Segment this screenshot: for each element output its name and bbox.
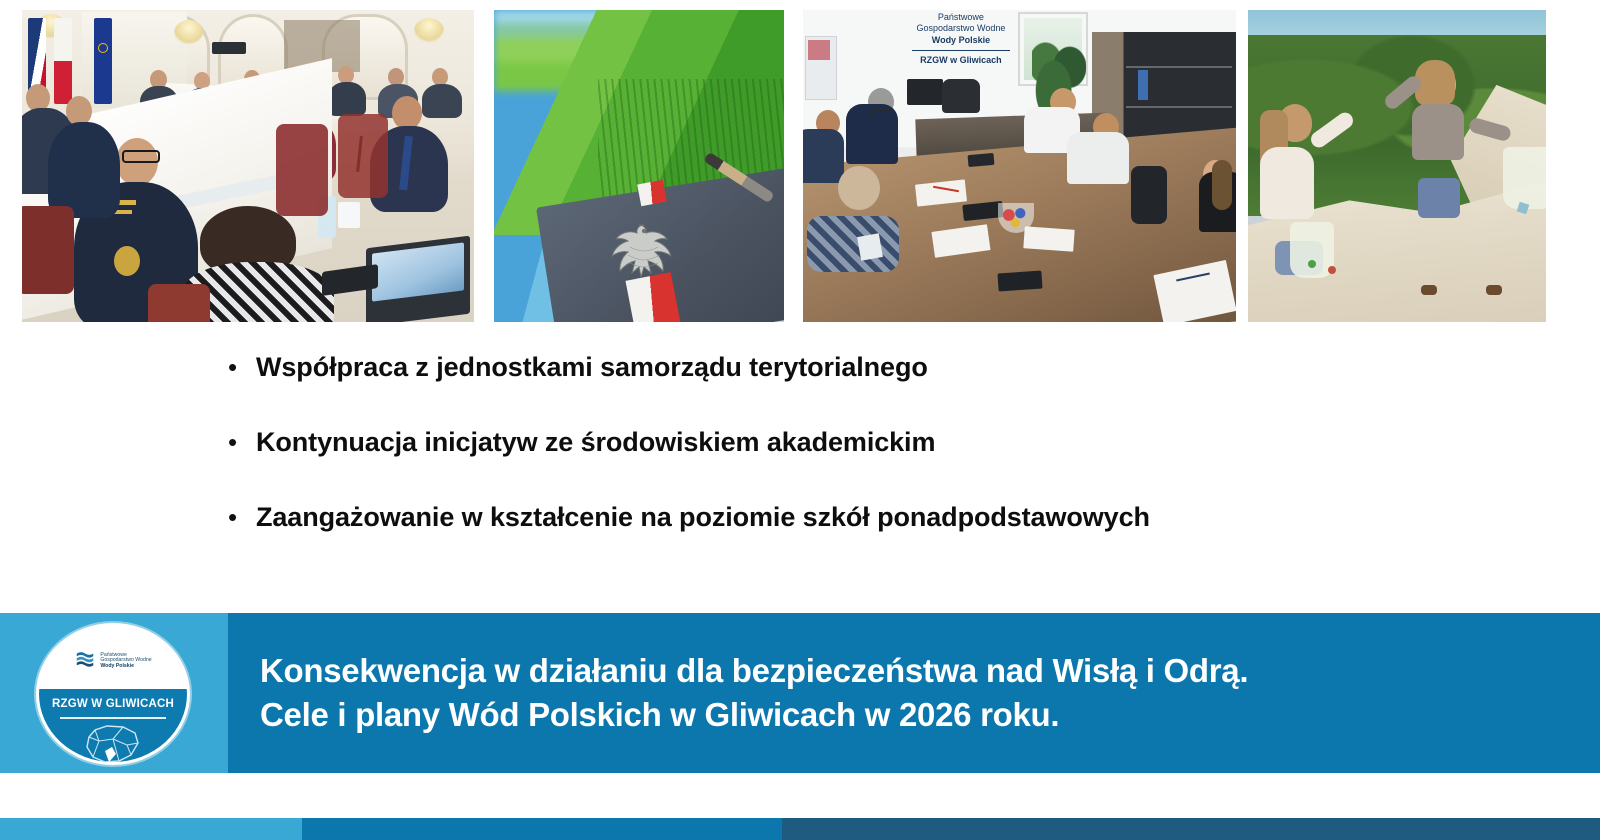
list-item: • Zaangażowanie w kształcenie na poziomi…: [228, 502, 1528, 577]
logo-region-name: RZGW W GLIWICACH: [39, 689, 187, 719]
banner-text-panel: Konsekwencja w działaniu dla bezpieczeńs…: [228, 613, 1600, 773]
wave-icon: [74, 648, 96, 675]
conference-meeting-photo: [22, 10, 474, 322]
bullet-item-text: Współpraca z jednostkami samorządu teryt…: [256, 352, 928, 383]
strip-segment-1: [0, 818, 302, 840]
bullet-marker-icon: •: [228, 429, 256, 455]
photo-strip: Państwowe Gospodarstwo Wodne Wody Polski…: [0, 0, 1600, 330]
bottom-color-strip: [0, 818, 1600, 840]
banner-title-line1: Konsekwencja w działaniu dla bezpieczeńs…: [260, 649, 1248, 693]
bullet-item-text: Zaangażowanie w kształcenie na poziomie …: [256, 502, 1150, 533]
bullet-marker-icon: •: [228, 354, 256, 380]
footer-banner: Państwowe Gospodarstwo Wodne Wody Polski…: [0, 613, 1600, 773]
strip-segment-3: [782, 818, 1600, 840]
list-item: • Współpraca z jednostkami samorządu ter…: [228, 352, 1528, 427]
page-title: Konsekwencja w działaniu dla bezpieczeńs…: [260, 649, 1248, 736]
bullet-list: • Współpraca z jednostkami samorządu ter…: [228, 352, 1528, 577]
poland-map-icon: [81, 721, 145, 762]
office-meeting-photo: Państwowe Gospodarstwo Wodne Wody Polski…: [803, 10, 1236, 322]
bullet-marker-icon: •: [228, 504, 256, 530]
emblem-stream-photo: [494, 10, 784, 322]
dune-cleanup-photo: [1248, 10, 1546, 322]
strip-segment-2: [302, 818, 782, 840]
list-item: • Kontynuacja inicjatyw ze środowiskiem …: [228, 427, 1528, 502]
logo-panel: Państwowe Gospodarstwo Wodne Wody Polski…: [0, 613, 228, 773]
bullet-item-text: Kontynuacja inicjatyw ze środowiskiem ak…: [256, 427, 935, 458]
rzgw-gliwice-logo: Państwowe Gospodarstwo Wodne Wody Polski…: [39, 626, 187, 762]
logo-institution-line3: Wody Polskie: [100, 664, 151, 670]
banner-title-line2: Cele i plany Wód Polskich w Gliwicach w …: [260, 693, 1248, 737]
